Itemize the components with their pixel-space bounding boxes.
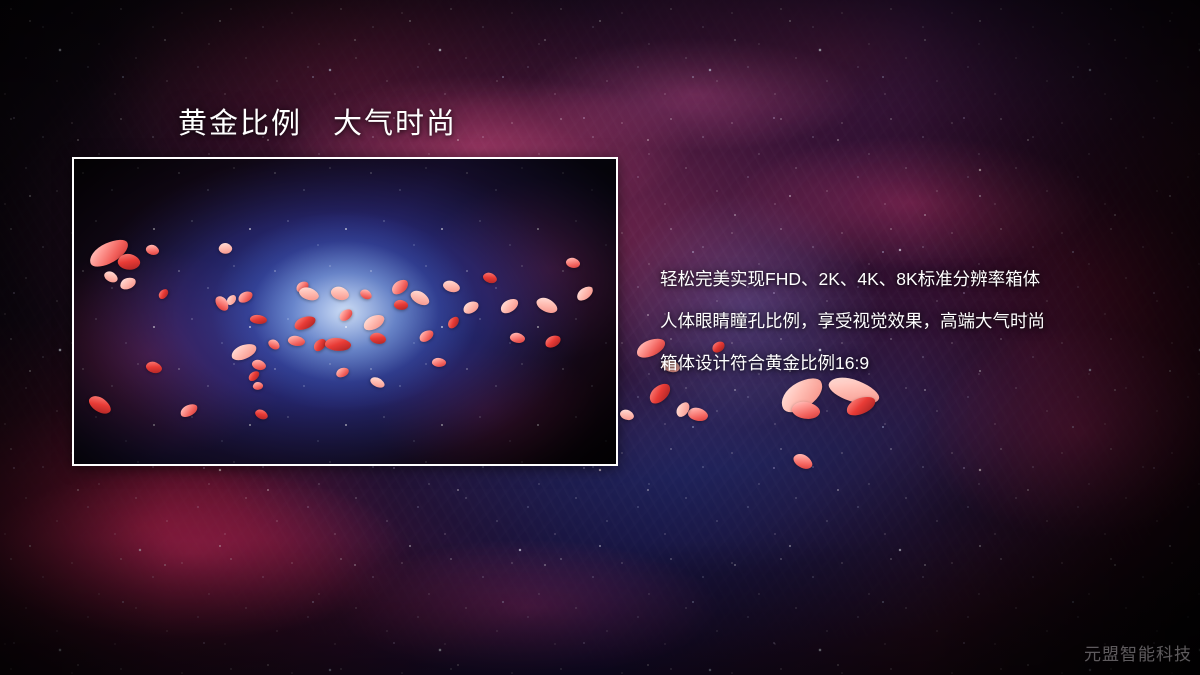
body-copy-line-2: 人体眼睛瞳孔比例，享受视觉效果，高端大气时尚 bbox=[660, 300, 1190, 342]
picture-vignette bbox=[74, 159, 616, 464]
petal-outside-12 bbox=[618, 407, 635, 423]
watermark: 元盟智能科技 bbox=[1084, 640, 1192, 665]
petal-outside-5 bbox=[673, 400, 692, 419]
presentation-slide: 黄金比例 大气时尚 轻松完美实现FHD、2K、4K、8K标准分辨率箱体人体眼睛瞳… bbox=[0, 0, 1200, 675]
framed-picture bbox=[72, 157, 618, 466]
petal-outside-3 bbox=[646, 381, 674, 407]
petal-outside-9 bbox=[844, 394, 877, 418]
body-copy-line-3: 箱体设计符合黄金比例16:9 bbox=[660, 342, 1190, 384]
petal-outside-4 bbox=[686, 405, 709, 425]
slide-title: 黄金比例 大气时尚 bbox=[178, 100, 457, 142]
body-copy: 轻松完美实现FHD、2K、4K、8K标准分辨率箱体人体眼睛瞳孔比例，享受视觉效果… bbox=[660, 258, 1190, 384]
petal-outside-10 bbox=[791, 450, 815, 473]
body-copy-line-1: 轻松完美实现FHD、2K、4K、8K标准分辨率箱体 bbox=[660, 258, 1190, 300]
petal-outside-7 bbox=[790, 398, 822, 422]
